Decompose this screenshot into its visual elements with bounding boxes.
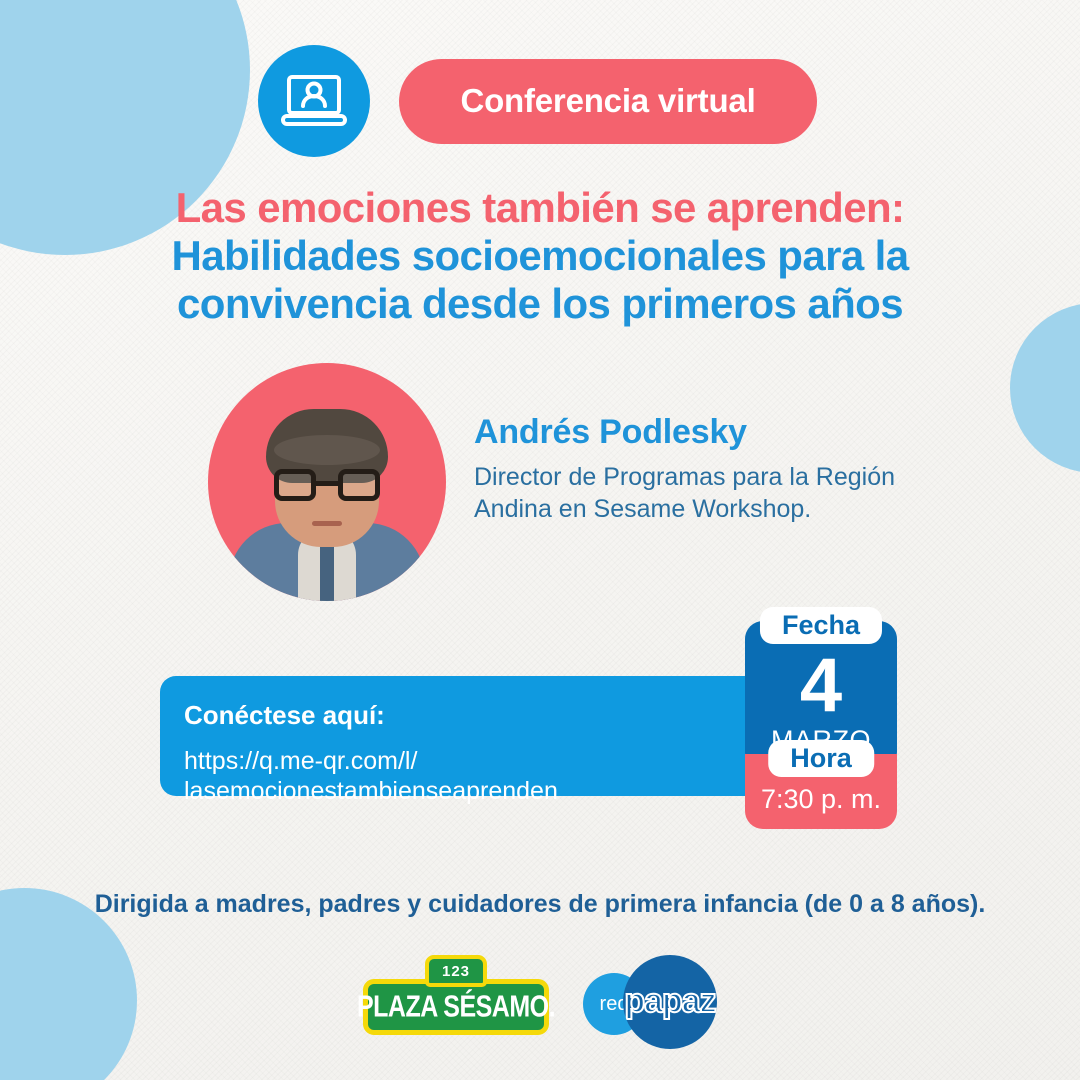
title-line-2: Habilidades socioemocionales para la: [0, 232, 1080, 280]
poster-canvas: Conferencia virtual Las emociones tambié…: [0, 0, 1080, 1080]
speaker-name: Andrés Podlesky: [474, 413, 904, 452]
audience-footnote: Dirigida a madres, padres y cuidadores d…: [0, 890, 1080, 919]
plaza-sesamo-logo: 123 PLAZA SÉSAMO.: [363, 955, 549, 1035]
connection-link-banner[interactable]: Conéctese aquí: https://q.me-qr.com/l/ l…: [160, 676, 770, 796]
red-papaz-papaz-text: papaz: [624, 987, 715, 1016]
connection-link-url-line-2: lasemocionestambienseaprenden: [184, 777, 770, 807]
date-label-chip: Fecha: [760, 607, 882, 644]
webinar-laptop-icon: [258, 45, 370, 157]
time-label-chip: Hora: [768, 740, 874, 777]
plaza-sesamo-123: 123: [425, 955, 487, 987]
logo-row: 123 PLAZA SÉSAMO. red papaz: [0, 955, 1080, 1035]
plaza-sesamo-name: PLAZA SÉSAMO.: [357, 989, 555, 1024]
connection-link-url[interactable]: https://q.me-qr.com/l/ lasemocionestambi…: [184, 747, 770, 806]
schedule-badge: Fecha 4 MARZO Hora 7:30 p. m.: [745, 621, 897, 829]
header-row: Conferencia virtual: [258, 45, 817, 157]
connection-link-url-line-1: https://q.me-qr.com/l/: [184, 747, 770, 777]
conference-type-label: Conferencia virtual: [460, 82, 755, 120]
connection-link-title: Conéctese aquí:: [184, 700, 770, 731]
speaker-text: Andrés Podlesky Director de Programas pa…: [474, 363, 904, 525]
time-value: 7:30 p. m.: [745, 784, 897, 815]
page-title: Las emociones también se aprenden: Habil…: [0, 184, 1080, 328]
speaker-avatar: [208, 363, 446, 601]
time-panel: Hora 7:30 p. m.: [745, 754, 897, 829]
decor-circle-right: [1010, 303, 1080, 473]
plaza-sesamo-sign: PLAZA SÉSAMO.: [363, 979, 549, 1035]
date-day: 4: [745, 651, 897, 721]
red-papaz-logo: red papaz: [583, 955, 717, 1035]
conference-type-badge: Conferencia virtual: [399, 59, 817, 144]
red-papaz-main-circle: papaz: [623, 955, 717, 1049]
title-line-1: Las emociones también se aprenden:: [0, 184, 1080, 232]
title-line-3: convivencia desde los primeros años: [0, 280, 1080, 328]
speaker-role: Director de Programas para la Región And…: [474, 461, 904, 525]
speaker-block: Andrés Podlesky Director de Programas pa…: [208, 363, 904, 601]
